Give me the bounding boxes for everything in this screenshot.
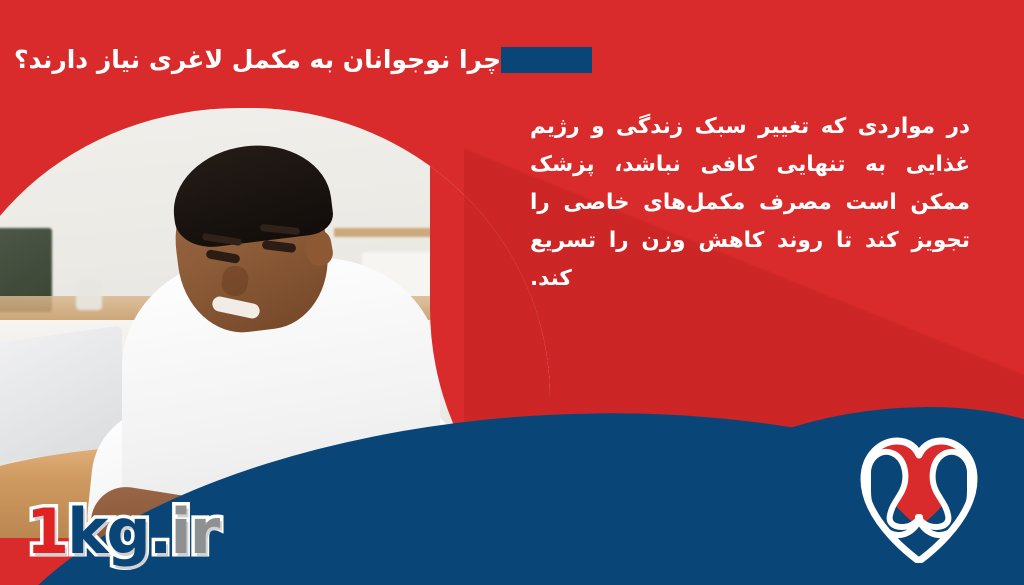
logo-part-one: 1 — [26, 501, 67, 563]
heart-muscle-icon — [858, 431, 980, 563]
site-logo[interactable]: 1 kg . ir — [26, 501, 218, 563]
logo-part-ir: ir — [170, 501, 218, 563]
header: چرا نوجوانان به مکمل لاغری نیاز دارند؟ — [0, 44, 1024, 75]
logo-part-kg: kg — [67, 501, 149, 563]
logo-part-dot: . — [149, 501, 171, 563]
title-accent-bar — [501, 47, 592, 73]
promo-banner: چرا نوجوانان به مکمل لاغری نیاز دارند؟ د… — [0, 0, 1024, 585]
photo-person-hair — [167, 137, 336, 252]
page-title: چرا نوجوانان به مکمل لاغری نیاز دارند؟ — [14, 44, 501, 75]
body-paragraph-text: در مواردی که تغییر سبک زندگی و رژیم غذای… — [530, 108, 970, 298]
body-paragraph: در مواردی که تغییر سبک زندگی و رژیم غذای… — [530, 108, 970, 298]
